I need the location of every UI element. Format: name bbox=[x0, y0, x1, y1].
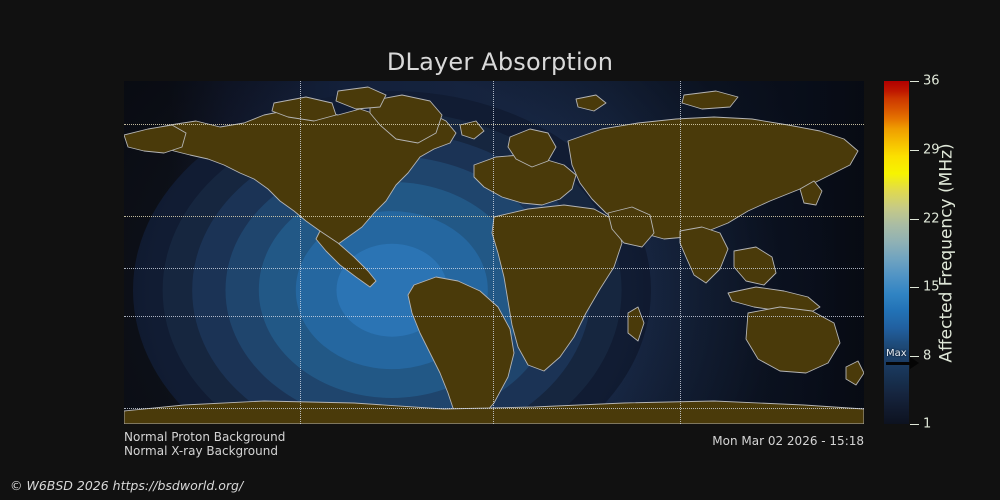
gridline-lat-tropic-capricorn bbox=[124, 316, 864, 317]
proton-background-note: Normal Proton Background bbox=[124, 430, 285, 444]
central-america-landmass bbox=[316, 231, 376, 287]
south-america-landmass bbox=[408, 277, 514, 424]
gridline-lat-arctic bbox=[124, 124, 864, 125]
madagascar-landmass bbox=[628, 307, 644, 341]
gridline-lat-antarctic bbox=[124, 408, 864, 409]
new-zealand-landmass bbox=[846, 361, 864, 385]
antarctica-landmass bbox=[124, 401, 864, 424]
gridline-lon-minus90 bbox=[300, 81, 301, 424]
max-marker-arrow-head bbox=[910, 357, 919, 369]
xray-background-note: Normal X-ray Background bbox=[124, 444, 278, 458]
continents-layer bbox=[124, 81, 864, 424]
max-marker-arrow-shaft bbox=[886, 362, 912, 365]
gridline-lat-tropic-cancer bbox=[124, 216, 864, 217]
severnaya-zemlya-landmass bbox=[682, 91, 738, 109]
colorbar-tick-1 bbox=[910, 424, 919, 425]
gridline-lon-90 bbox=[680, 81, 681, 424]
gridline-lon-0 bbox=[493, 81, 494, 424]
world-map[interactable] bbox=[124, 81, 864, 424]
india-landmass bbox=[680, 227, 728, 283]
colorbar-tick-29 bbox=[910, 150, 919, 151]
southeast-asia-landmass bbox=[734, 247, 776, 285]
colorbar-axis-title-text: Affected Frequency (MHz) bbox=[937, 143, 957, 362]
dlayer-absorption-page: DLayer Absorption bbox=[0, 0, 1000, 500]
arctic-islands-north bbox=[336, 87, 386, 109]
svalbard-landmass bbox=[576, 95, 606, 111]
colorbar-axis-title: Affected Frequency (MHz) bbox=[935, 81, 959, 424]
max-marker-label: Max bbox=[886, 348, 907, 359]
colorbar-tick-22 bbox=[910, 219, 919, 220]
page-title: DLayer Absorption bbox=[0, 48, 1000, 76]
alaska-landmass bbox=[124, 125, 186, 153]
colorbar-label-1: 1 bbox=[923, 417, 931, 432]
colorbar-tick-15 bbox=[910, 287, 919, 288]
timestamp: Mon Mar 02 2026 - 15:18 bbox=[712, 434, 864, 448]
gridline-lat-equator bbox=[124, 268, 864, 269]
colorbar-tick-36 bbox=[910, 81, 919, 82]
credit-line: © W6BSD 2026 https://bsdworld.org/ bbox=[10, 478, 243, 493]
